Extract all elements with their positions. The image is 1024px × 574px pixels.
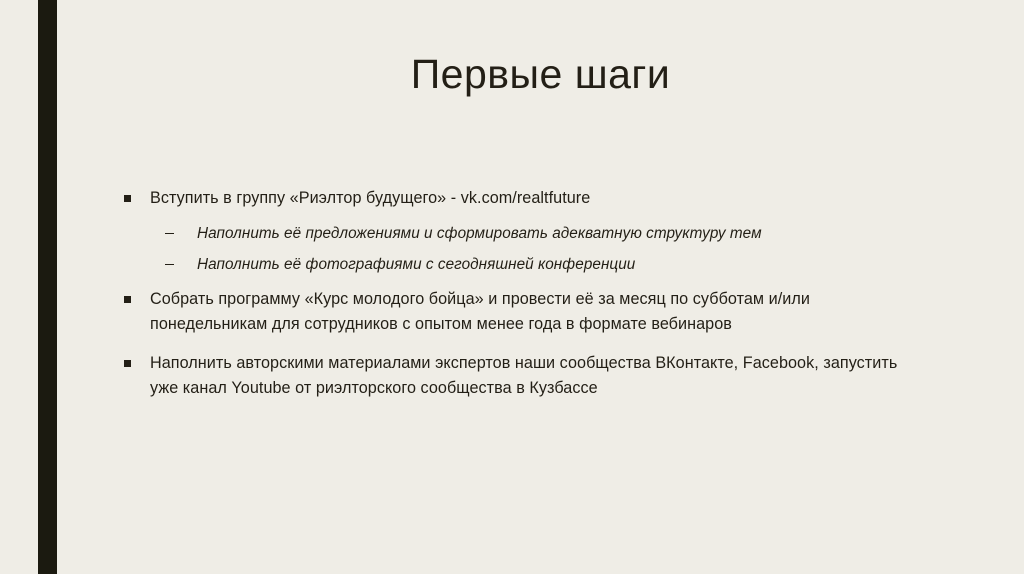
left-accent-bar bbox=[38, 0, 57, 574]
square-bullet-icon bbox=[124, 296, 131, 303]
list-item-text: Наполнить авторскими материалами эксперт… bbox=[150, 354, 897, 398]
list-item: Вступить в группу «Риэлтор будущего» - v… bbox=[118, 186, 918, 212]
dash-bullet-icon bbox=[165, 264, 174, 266]
list-item: Собрать программу «Курс молодого бойца» … bbox=[118, 287, 918, 338]
page-title: Первые шаги bbox=[57, 52, 1024, 97]
sub-list-item: Наполнить её фотографиями с сегодняшней … bbox=[118, 252, 918, 278]
square-bullet-icon bbox=[124, 360, 131, 367]
presentation-slide: Первые шаги Вступить в группу «Риэлтор б… bbox=[0, 0, 1024, 574]
list-item-text: Собрать программу «Курс молодого бойца» … bbox=[150, 290, 810, 334]
sub-bullet-list: Наполнить её предложениями и сформироват… bbox=[118, 221, 918, 278]
bullet-list: Вступить в группу «Риэлтор будущего» - v… bbox=[118, 186, 918, 411]
sub-list-item-text: Наполнить её предложениями и сформироват… bbox=[197, 225, 762, 242]
sub-list-item: Наполнить её предложениями и сформироват… bbox=[118, 221, 918, 247]
list-item: Наполнить авторскими материалами эксперт… bbox=[118, 351, 918, 402]
sub-list-item-text: Наполнить её фотографиями с сегодняшней … bbox=[197, 256, 635, 273]
dash-bullet-icon bbox=[165, 233, 174, 235]
list-item-text: Вступить в группу «Риэлтор будущего» - v… bbox=[150, 189, 590, 207]
square-bullet-icon bbox=[124, 195, 131, 202]
